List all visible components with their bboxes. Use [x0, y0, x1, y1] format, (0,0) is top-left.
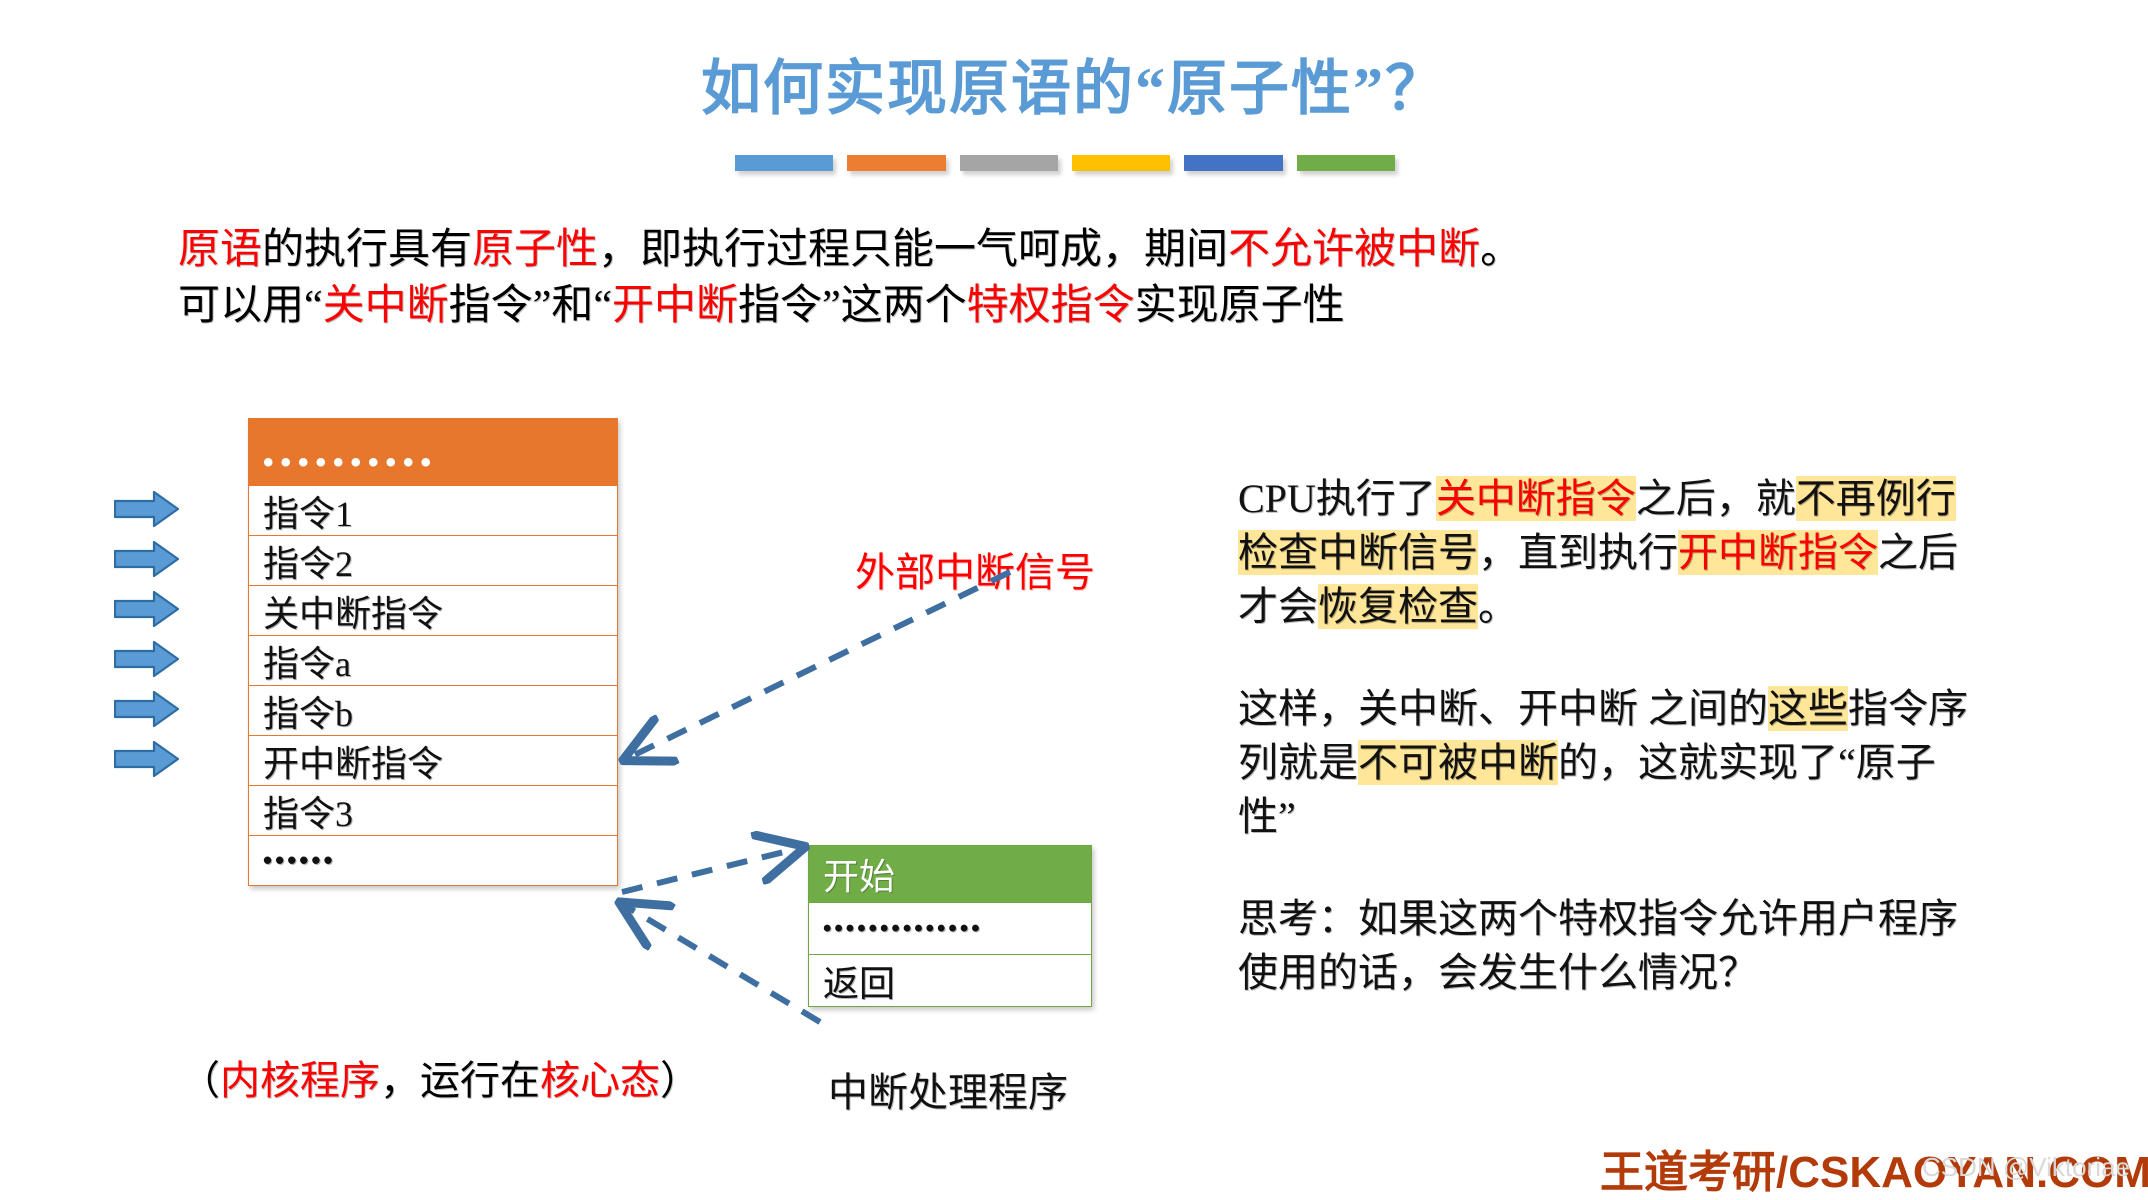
- instruction-row-label: 指令1: [263, 485, 353, 537]
- handler-row-label: 返回: [823, 955, 895, 1007]
- intro-line-2-run-3: 开中断: [612, 283, 738, 329]
- instruction-row-label: 指令2: [263, 535, 353, 587]
- intro-line-1: 原语的执行具有原子性，即执行过程只能一气呵成，期间不允许被中断。: [178, 222, 1578, 278]
- instruction-row-label: 指令a: [263, 635, 351, 687]
- explanation-text: CPU执行了关中断指令之后，就不再例行检查中断信号，直到执行开中断指令之后才会恢…: [1238, 472, 1978, 1000]
- title-rule-segment-1: [847, 155, 945, 171]
- explanation-p1-run-2: 之后，就: [1636, 476, 1796, 521]
- flow-arrow-row-2: [114, 590, 180, 633]
- intro-line-2-run-1: 关中断: [323, 283, 449, 329]
- right-arrow-icon: [114, 640, 180, 678]
- handler-row-label: ••••••••••••••: [823, 915, 983, 943]
- kernel-caption-run-1: 内核程序: [220, 1058, 380, 1103]
- intro-line-1-run-2: 原子性: [472, 227, 598, 273]
- flow-arrow-row-5: [114, 740, 180, 783]
- page-title: 如何实现原语的“原子性”？: [0, 40, 2148, 127]
- handler-header: 开始: [809, 846, 1091, 902]
- instruction-row-label: 指令b: [263, 685, 353, 737]
- right-arrow-icon: [114, 540, 180, 578]
- connector-handler-return-to-table: [624, 905, 820, 1022]
- instruction-row-label: 指令3: [263, 785, 353, 837]
- instruction-row-3: 指令a: [249, 635, 617, 685]
- flow-arrow-row-1: [114, 540, 180, 583]
- instruction-row-4: 指令b: [249, 685, 617, 735]
- intro-line-2-run-5: 特权指令: [967, 283, 1135, 329]
- title-decorative-rule: [735, 155, 1395, 173]
- instruction-table-header: ••••••••••: [249, 419, 617, 485]
- explanation-p1-run-8: 。: [1478, 584, 1518, 629]
- explanation-p2-run-1: 这些: [1768, 686, 1848, 731]
- explanation-paragraph-2: 这样，关中断、开中断 之间的这些指令序列就是不可被中断的，这就实现了“原子性”: [1238, 682, 1978, 844]
- title-rule-segment-2: [960, 155, 1058, 171]
- intro-line-1-run-4: 不允许被中断: [1228, 227, 1480, 273]
- flow-arrow-row-3: [114, 640, 180, 683]
- title-rule-segment-4: [1184, 155, 1282, 171]
- intro-line-2: 可以用“关中断指令”和“开中断指令”这两个特权指令实现原子性: [178, 278, 1578, 334]
- explanation-p2-run-3: 不可被中断: [1358, 740, 1558, 785]
- instruction-table: •••••••••• 指令1指令2关中断指令指令a指令b开中断指令指令3••••…: [248, 418, 618, 886]
- flow-arrow-row-4: [114, 690, 180, 733]
- intro-paragraph: 原语的执行具有原子性，即执行过程只能一气呵成，期间不允许被中断。 可以用“关中断…: [178, 222, 1578, 334]
- connector-table-to-handler: [622, 848, 800, 892]
- handler-row-0: ••••••••••••••: [809, 902, 1091, 954]
- instruction-row-label: 关中断指令: [263, 585, 443, 637]
- explanation-p1-run-5: 开中断指令: [1678, 530, 1878, 575]
- explanation-p3-run-0: 思考：如果这两个特权指令允许用户程序使用的话，会发生什么情况？: [1238, 896, 1958, 995]
- instruction-row-label: 开中断指令: [263, 735, 443, 787]
- external-interrupt-signal-label: 外部中断信号: [855, 540, 1095, 598]
- csdn-watermark: CSDN @Viktoriae: [1922, 1152, 2130, 1183]
- right-arrow-icon: [114, 690, 180, 728]
- title-rule-segment-5: [1297, 155, 1395, 171]
- kernel-caption-run-2: ，运行在: [380, 1058, 540, 1103]
- flow-arrow-row-0: [114, 490, 180, 533]
- right-arrow-icon: [114, 590, 180, 628]
- instruction-row-2: 关中断指令: [249, 585, 617, 635]
- right-arrow-icon: [114, 740, 180, 778]
- intro-line-2-run-4: 指令”这两个: [738, 283, 967, 329]
- explanation-paragraph-3: 思考：如果这两个特权指令允许用户程序使用的话，会发生什么情况？: [1238, 892, 1978, 1000]
- connector-signal-to-table: [628, 572, 1010, 758]
- interrupt-handler-box: 开始 ••••••••••••••返回: [808, 845, 1092, 1007]
- handler-row-1: 返回: [809, 954, 1091, 1006]
- explanation-paragraph-1: CPU执行了关中断指令之后，就不再例行检查中断信号，直到执行开中断指令之后才会恢…: [1238, 472, 1978, 634]
- instruction-row-1: 指令2: [249, 535, 617, 585]
- intro-line-2-run-0: 可以用“: [178, 283, 323, 329]
- header-dots-label: ••••••••••: [263, 453, 438, 473]
- intro-line-1-run-5: 。: [1480, 227, 1522, 273]
- title-rule-segment-0: [735, 155, 833, 171]
- explanation-p2-run-0: 这样，关中断、开中断 之间的: [1238, 686, 1768, 731]
- kernel-program-caption: （内核程序，运行在核心态）: [180, 1048, 700, 1106]
- explanation-p1-run-7: 恢复检查: [1318, 584, 1478, 629]
- kernel-caption-run-3: 核心态: [540, 1058, 660, 1103]
- intro-line-2-run-2: 指令”和“: [449, 283, 612, 329]
- intro-line-2-run-6: 实现原子性: [1135, 283, 1345, 329]
- explanation-p1-run-1: 关中断指令: [1436, 476, 1636, 521]
- intro-line-1-run-0: 原语: [178, 227, 262, 273]
- explanation-p1-run-4: ，直到执行: [1478, 530, 1678, 575]
- explanation-p1-run-0: CPU执行了: [1238, 476, 1436, 521]
- instruction-row-7: ••••••: [249, 835, 617, 885]
- interrupt-handler-caption: 中断处理程序: [828, 1060, 1068, 1118]
- intro-line-1-run-3: ，即执行过程只能一气呵成，期间: [598, 227, 1228, 273]
- title-rule-segment-3: [1072, 155, 1170, 171]
- instruction-row-0: 指令1: [249, 485, 617, 535]
- kernel-caption-run-0: （: [180, 1058, 220, 1103]
- instruction-row-6: 指令3: [249, 785, 617, 835]
- instruction-row-5: 开中断指令: [249, 735, 617, 785]
- intro-line-1-run-1: 的执行具有: [262, 227, 472, 273]
- right-arrow-icon: [114, 490, 180, 528]
- kernel-caption-run-4: ）: [660, 1058, 700, 1103]
- instruction-row-label: ••••••: [263, 845, 336, 876]
